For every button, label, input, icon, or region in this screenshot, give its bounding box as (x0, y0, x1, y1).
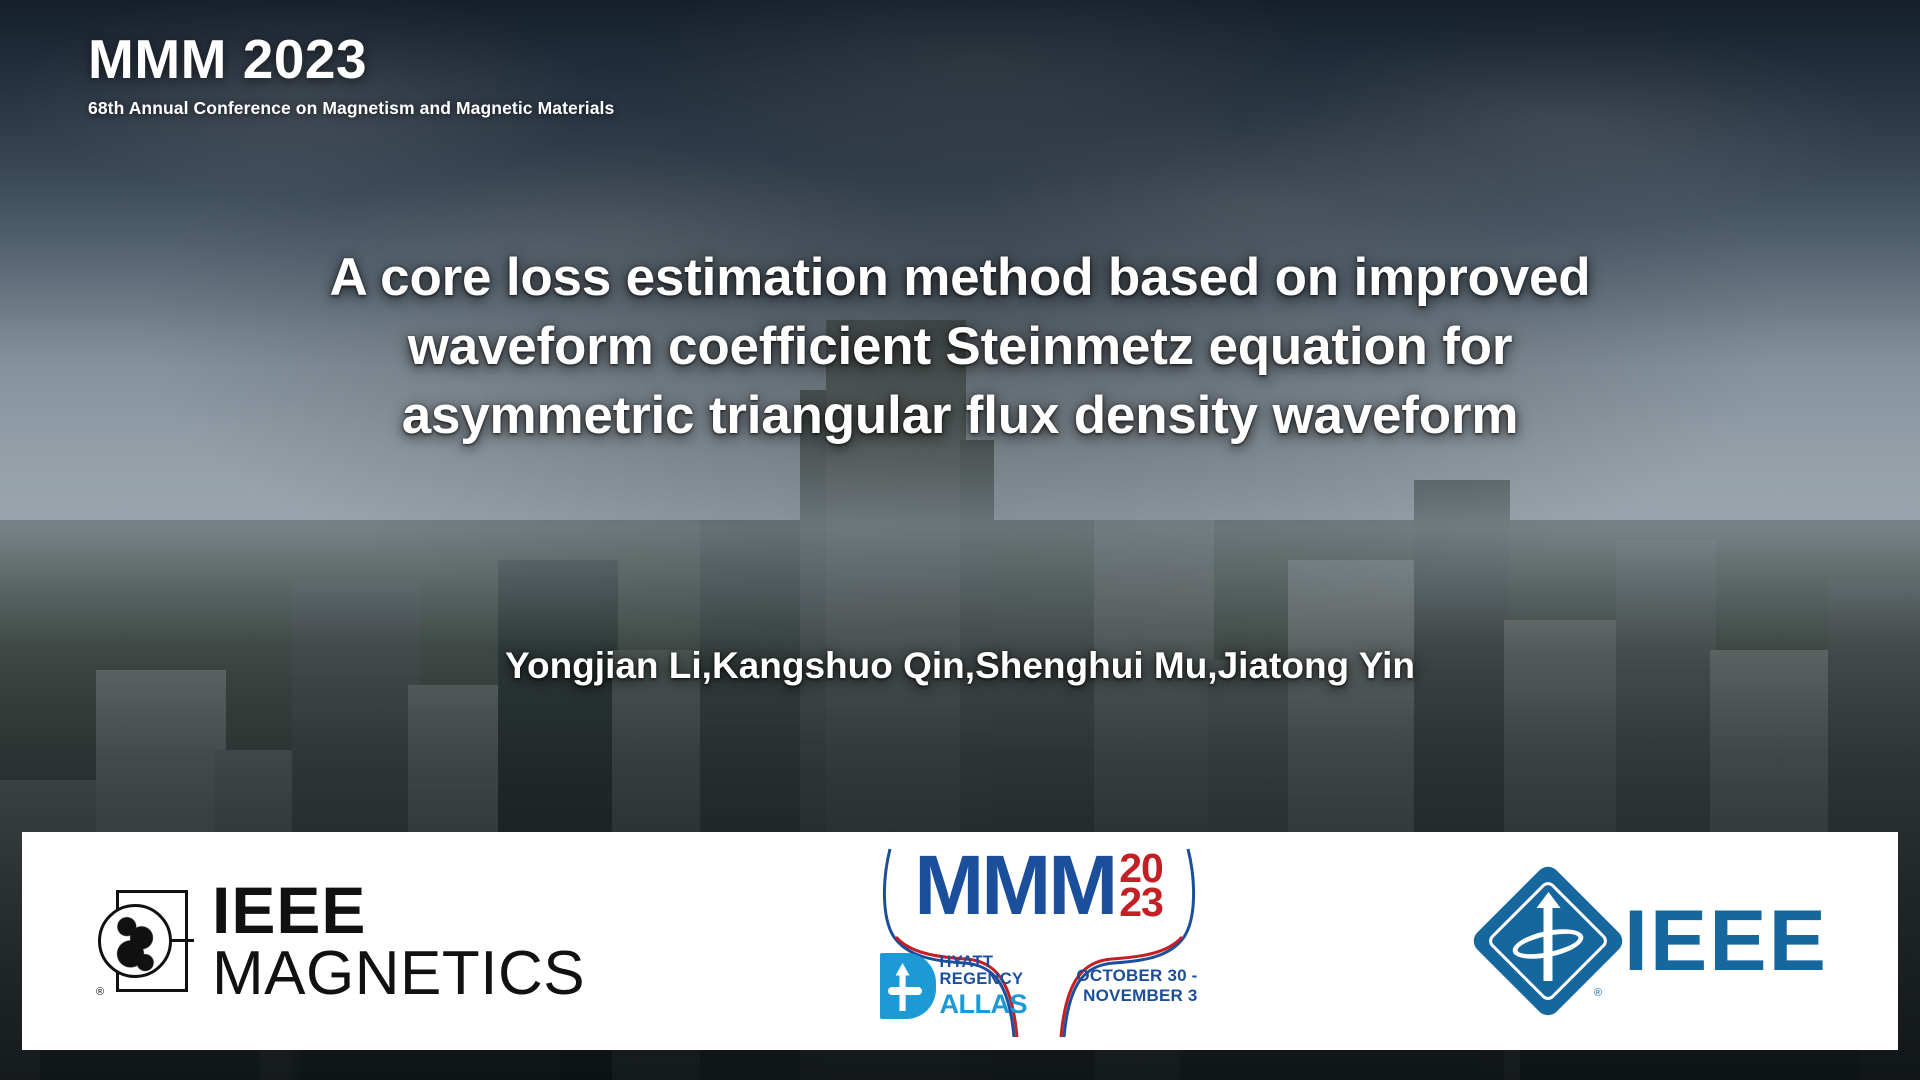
ieee-logo: ® IEEE (1492, 885, 1828, 997)
paper-title-line: waveform coefficient Steinmetz equation … (120, 313, 1800, 382)
ieee-magnetics-wordmark: IEEE MAGNETICS (212, 880, 585, 1002)
magnetics-word-text: MAGNETICS (212, 945, 585, 1002)
hyatt-regency-dallas-lockup: HYATT REGENCY ALLAS (880, 953, 1028, 1019)
registered-mark-icon: ® (1594, 987, 1602, 999)
ieee-globe-sphere (98, 904, 172, 978)
ieee-globe-icon: ® (92, 882, 196, 1000)
paper-title-line: asymmetric triangular flux density wavef… (120, 382, 1800, 451)
conference-dates-block: OCTOBER 30 - NOVEMBER 3 (1076, 966, 1197, 1005)
hyatt-text-block: HYATT REGENCY ALLAS (940, 954, 1028, 1017)
magnetics-ieee-text: IEEE (212, 880, 585, 941)
sponsor-logo-bar: ® IEEE MAGNETICS MMM 20 23 (22, 832, 1898, 1050)
hyatt-line1-text: HYATT (940, 954, 1028, 971)
ieee-magnetics-logo: ® IEEE MAGNETICS (92, 880, 585, 1002)
mmm-year-bottom-text: 23 (1119, 885, 1163, 919)
hyatt-d-icon (880, 953, 936, 1019)
dates-line2-text: NOVEMBER 3 (1076, 986, 1197, 1006)
mmm-wordmark-row: MMM 20 23 (874, 841, 1204, 924)
conference-subtitle: 68th Annual Conference on Magnetism and … (88, 98, 614, 119)
mmm-venue-row: HYATT REGENCY ALLAS OCTOBER 30 - NOVEMBE… (874, 953, 1204, 1019)
ieee-diamond-icon: ® (1492, 885, 1604, 997)
paper-title: A core loss estimation method based on i… (120, 244, 1800, 451)
ieee-wordmark-text: IEEE (1624, 898, 1828, 984)
mmm-year-stack: 20 23 (1119, 851, 1163, 920)
ieee-arrow-icon (1544, 901, 1553, 981)
paper-title-block: A core loss estimation method based on i… (0, 244, 1920, 451)
presentation-slide: MMM 2023 68th Annual Conference on Magne… (0, 0, 1920, 1080)
conference-header: MMM 2023 68th Annual Conference on Magne… (88, 30, 614, 119)
hyatt-line3-text: ALLAS (940, 990, 1028, 1018)
registered-mark-icon: ® (96, 986, 104, 998)
mmm-word-text: MMM (914, 847, 1115, 924)
conference-title: MMM 2023 (88, 30, 614, 88)
mmm-2023-logo: MMM 20 23 HYATT REGENCY ALLAS OCTOBER 30… (874, 841, 1204, 1041)
hyatt-line2-text: REGENCY (940, 971, 1028, 988)
dates-line1-text: OCTOBER 30 - (1076, 966, 1197, 986)
author-list: Yongjian Li,Kangshuo Qin,Shenghui Mu,Jia… (0, 645, 1920, 687)
paper-title-line: A core loss estimation method based on i… (120, 244, 1800, 313)
